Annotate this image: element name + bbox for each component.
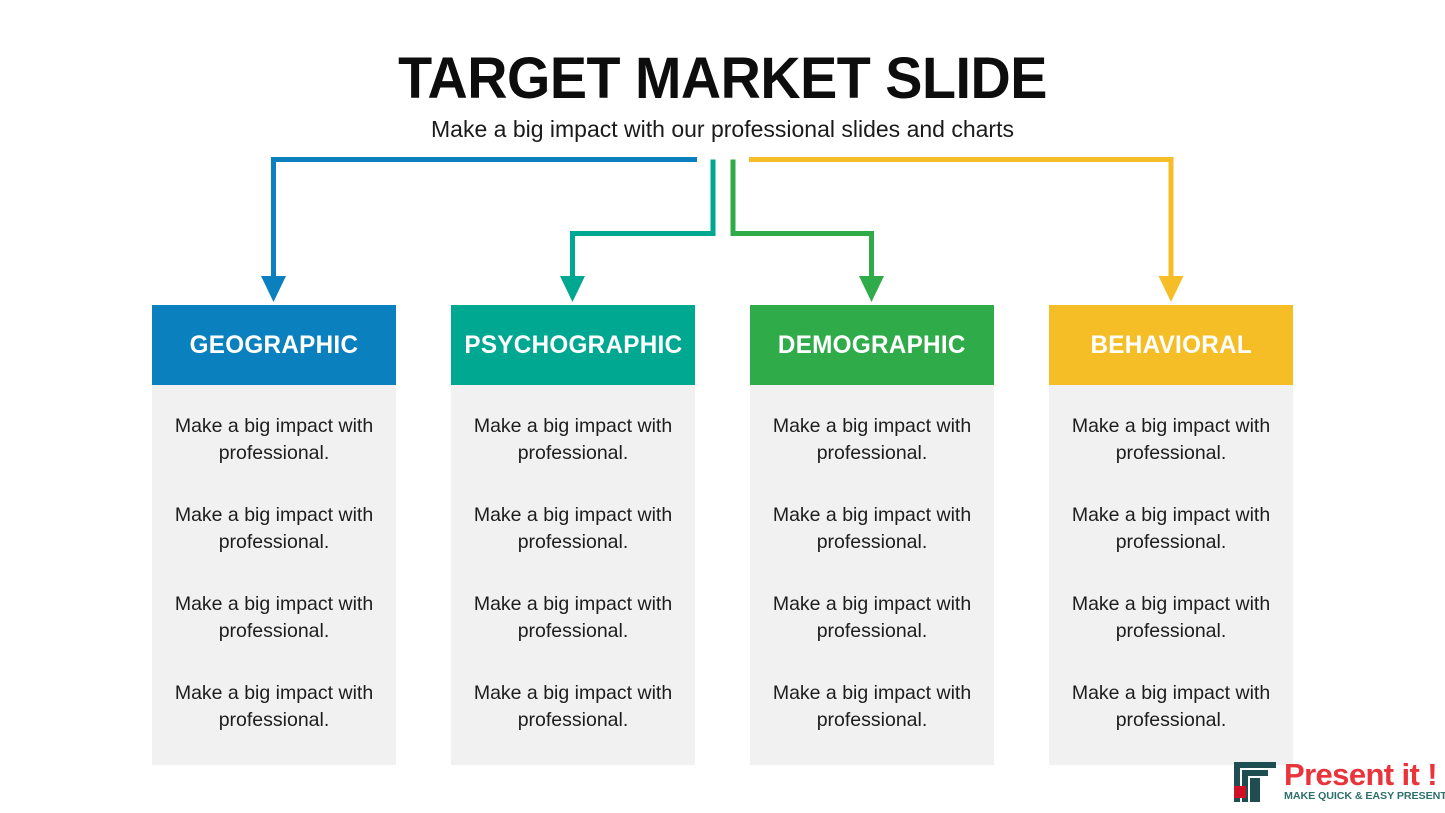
- card-title-demographic: DEMOGRAPHIC: [778, 331, 966, 360]
- list-item: Make a big impact with professional.: [750, 591, 994, 645]
- card-title-behavioral: BEHAVIORAL: [1090, 331, 1251, 360]
- connector-geographic: [261, 160, 697, 303]
- card-header-geographic: GEOGRAPHIC: [152, 305, 396, 385]
- page-subtitle: Make a big impact with our professional …: [0, 114, 1445, 144]
- list-item: Make a big impact with professional.: [750, 413, 994, 467]
- column-card-behavioral[interactable]: BEHAVIORAL Make a big impact with profes…: [1049, 305, 1293, 765]
- list-item: Make a big impact with professional.: [1049, 502, 1293, 556]
- card-body-geographic: Make a big impact with professional. Mak…: [152, 385, 396, 765]
- card-title-geographic: GEOGRAPHIC: [190, 331, 359, 360]
- logo-tagline: MAKE QUICK & EASY PRESENTATIONS: [1284, 790, 1445, 803]
- list-item: Make a big impact with professional.: [152, 680, 396, 734]
- connector-psychographic: [560, 160, 713, 303]
- list-item: Make a big impact with professional.: [750, 680, 994, 734]
- logo-wordmark: Present it !: [1284, 760, 1445, 790]
- card-header-psychographic: PSYCHOGRAPHIC: [451, 305, 695, 385]
- list-item: Make a big impact with professional.: [152, 413, 396, 467]
- column-card-psychographic[interactable]: PSYCHOGRAPHIC Make a big impact with pro…: [451, 305, 695, 765]
- list-item: Make a big impact with professional.: [451, 591, 695, 645]
- column-card-geographic[interactable]: GEOGRAPHIC Make a big impact with profes…: [152, 305, 396, 765]
- connector-behavioral: [749, 160, 1184, 303]
- list-item: Make a big impact with professional.: [451, 413, 695, 467]
- card-header-behavioral: BEHAVIORAL: [1049, 305, 1293, 385]
- list-item: Make a big impact with professional.: [451, 680, 695, 734]
- list-item: Make a big impact with professional.: [1049, 680, 1293, 734]
- present-it-logo-icon: [1232, 760, 1278, 802]
- card-body-demographic: Make a big impact with professional. Mak…: [750, 385, 994, 765]
- column-card-demographic[interactable]: DEMOGRAPHIC Make a big impact with profe…: [750, 305, 994, 765]
- card-header-demographic: DEMOGRAPHIC: [750, 305, 994, 385]
- brand-logo: Present it ! MAKE QUICK & EASY PRESENTAT…: [1232, 757, 1445, 805]
- list-item: Make a big impact with professional.: [451, 502, 695, 556]
- card-body-psychographic: Make a big impact with professional. Mak…: [451, 385, 695, 765]
- page-title: TARGET MARKET SLIDE: [29, 46, 1416, 112]
- list-item: Make a big impact with professional.: [750, 502, 994, 556]
- connector-demographic: [733, 160, 884, 303]
- list-item: Make a big impact with professional.: [152, 502, 396, 556]
- card-title-psychographic: PSYCHOGRAPHIC: [464, 331, 682, 360]
- list-item: Make a big impact with professional.: [152, 591, 396, 645]
- list-item: Make a big impact with professional.: [1049, 413, 1293, 467]
- card-body-behavioral: Make a big impact with professional. Mak…: [1049, 385, 1293, 765]
- list-item: Make a big impact with professional.: [1049, 591, 1293, 645]
